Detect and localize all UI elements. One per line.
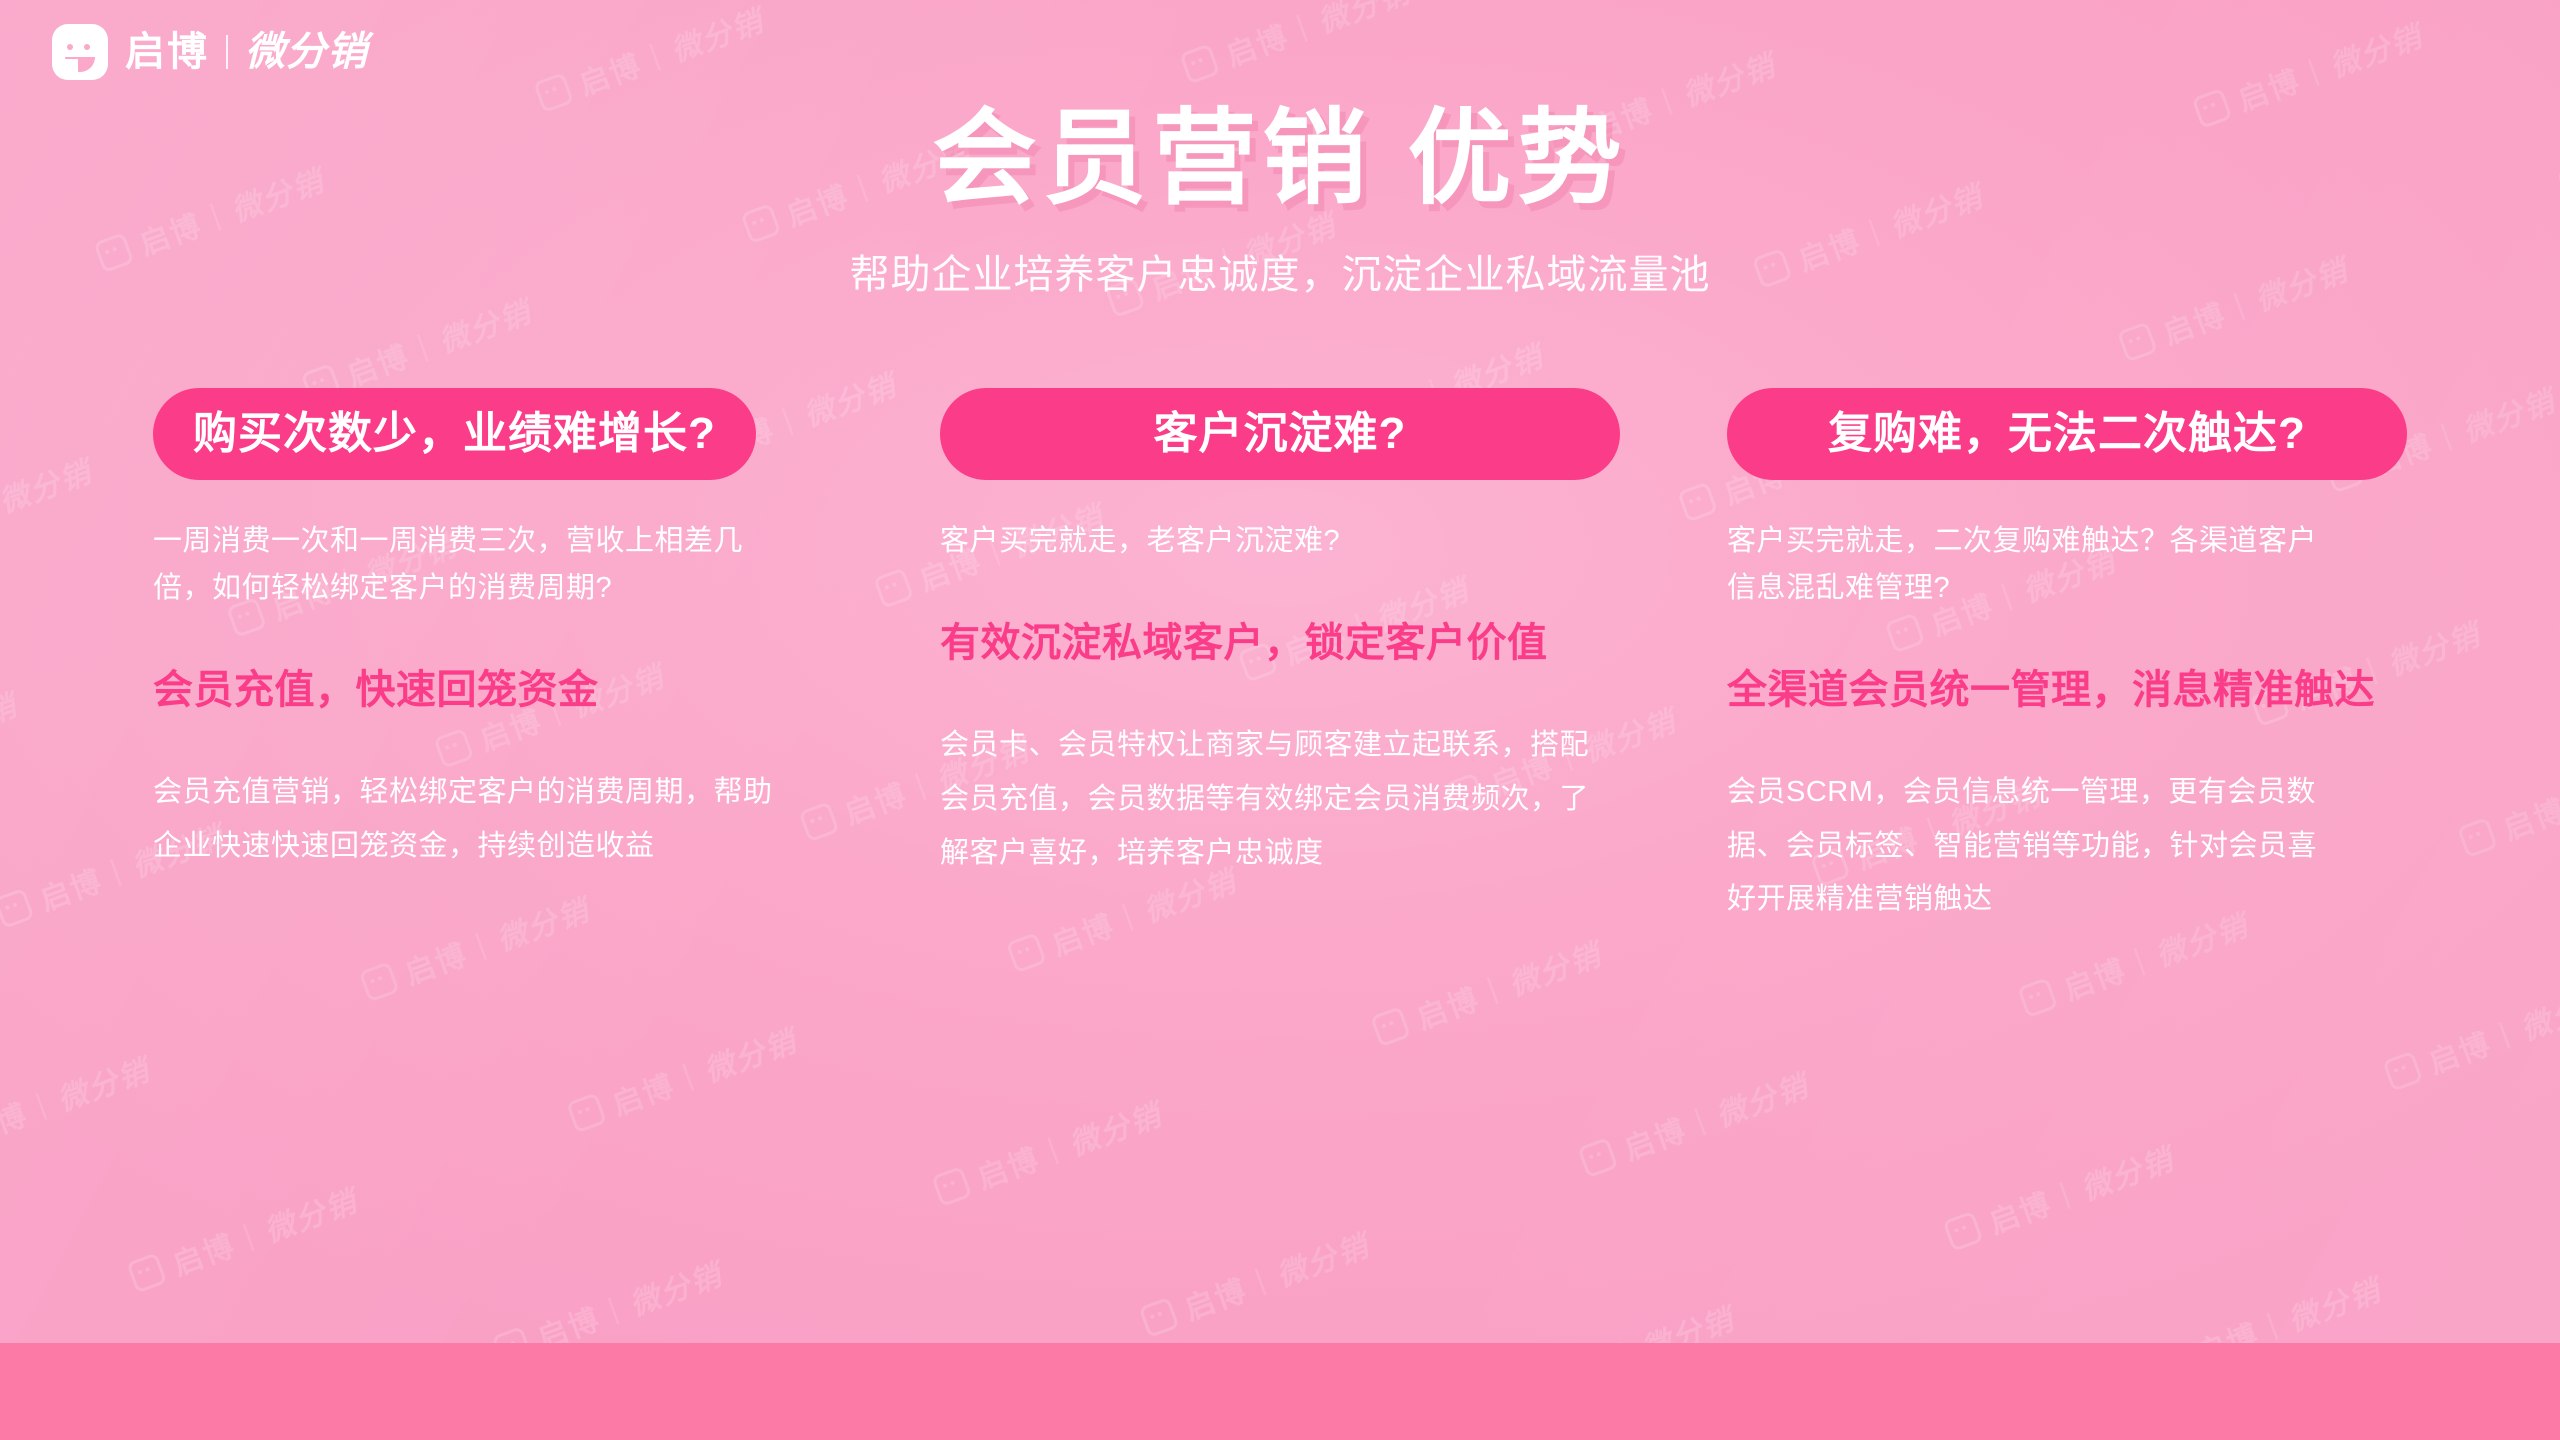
page-subtitle: 帮助企业培养客户忠诚度，沉淀企业私域流量池 xyxy=(0,247,2560,303)
smiley-rounded-square-icon xyxy=(1138,1297,1179,1338)
feature-column-2: 客户沉淀难? 客户买完就走，老客户沉淀难? 有效沉淀私域客户，锁定客户价值 会员… xyxy=(940,388,1620,956)
smiley-rounded-square-icon xyxy=(126,1252,167,1293)
bottom-color-band xyxy=(0,1343,2560,1440)
solution-description-2: 会员卡、会员特权让商家与顾客建立起联系，搭配会员充值，会员数据等有效绑定会员消费… xyxy=(940,719,1595,880)
smiley-rounded-square-icon xyxy=(2017,977,2058,1018)
problem-badge-1[interactable]: 购买次数少，业绩难增长? xyxy=(153,388,756,480)
problem-badge-3[interactable]: 复购难，无法二次触达? xyxy=(1727,388,2407,480)
brand-logo[interactable]: 启博 微分销 xyxy=(52,24,368,80)
hero-section: 会员营销 优势 帮助企业培养客户忠诚度，沉淀企业私域流量池 xyxy=(0,0,2560,303)
watermark-item: 启博|微分销 xyxy=(564,1016,803,1139)
problem-text-2: 客户买完就走，老客户沉淀难? xyxy=(940,518,1580,565)
watermark-item: 启博|微分销 xyxy=(124,1176,363,1299)
watermark-item: 启博|微分销 xyxy=(1136,1221,1375,1344)
smiley-rounded-square-icon xyxy=(52,24,108,80)
watermark-item: 启博|微分销 xyxy=(1576,1061,1815,1184)
brand-divider xyxy=(226,35,228,69)
smiley-rounded-square-icon xyxy=(2117,321,2158,362)
page-title: 会员营销 优势 xyxy=(0,96,2560,223)
brand-name: 启博 xyxy=(125,32,209,72)
smiley-rounded-square-icon xyxy=(1578,1137,1619,1178)
smiley-rounded-square-icon xyxy=(1370,1006,1411,1047)
watermark-item: 启博|微分销 xyxy=(929,1090,1168,1213)
solution-heading-2: 有效沉淀私域客户，锁定客户价值 xyxy=(940,617,1620,669)
watermark-item: 启博|微分销 xyxy=(2380,975,2560,1098)
smiley-rounded-square-icon xyxy=(931,1166,972,1207)
smiley-rounded-square-icon xyxy=(2382,1051,2423,1092)
brand-sub-name: 微分销 xyxy=(245,32,368,72)
solution-description-1: 会员充值营销，轻松绑定客户的消费周期，帮助企业快速快速回笼资金，持续创造收益 xyxy=(153,766,798,873)
smiley-rounded-square-icon xyxy=(1943,1211,1984,1252)
smiley-rounded-square-icon xyxy=(359,961,400,1002)
solution-heading-1: 会员充值，快速回笼资金 xyxy=(153,664,833,716)
problem-text-1: 一周消费一次和一周消费三次，营收上相差几倍，如何轻松绑定客户的消费周期? xyxy=(153,518,763,612)
watermark-item: 启博|微分销 xyxy=(0,1045,155,1168)
problem-text-3: 客户买完就走，二次复购难触达？各渠道客户信息混乱难管理? xyxy=(1727,518,2332,612)
page-root: 启博|微分销启博|微分销启博|微分销启博|微分销启博|微分销启博|微分销启博|微… xyxy=(0,0,2560,1440)
feature-column-1: 购买次数少，业绩难增长? 一周消费一次和一周消费三次，营收上相差几倍，如何轻松绑… xyxy=(153,388,833,956)
watermark-item: 启博|微分销 xyxy=(1941,1135,2180,1258)
solution-heading-3: 全渠道会员统一管理，消息精准触达 xyxy=(1727,664,2407,716)
smiley-rounded-square-icon xyxy=(566,1092,607,1133)
feature-columns: 购买次数少，业绩难增长? 一周消费一次和一周消费三次，营收上相差几倍，如何轻松绑… xyxy=(0,388,2560,956)
feature-column-3: 复购难，无法二次触达? 客户买完就走，二次复购难触达？各渠道客户信息混乱难管理?… xyxy=(1727,388,2407,956)
solution-description-3: 会员SCRM，会员信息统一管理，更有会员数据、会员标签、智能营销等功能，针对会员… xyxy=(1727,766,2337,927)
problem-badge-2[interactable]: 客户沉淀难? xyxy=(940,388,1620,480)
